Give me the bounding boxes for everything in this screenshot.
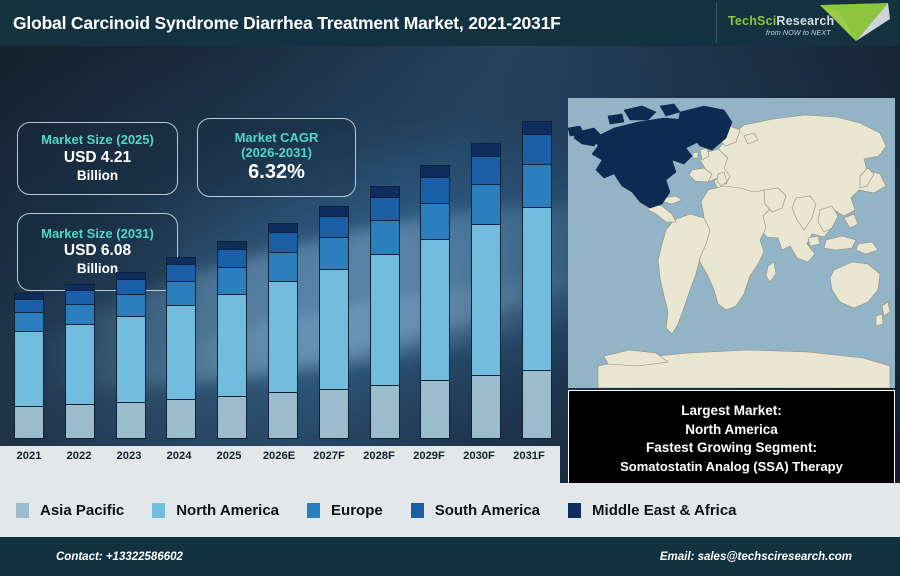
legend-label: North America: [176, 502, 279, 519]
bar-segment-north-america: [522, 207, 552, 370]
bar-segment-south-america: [268, 232, 298, 252]
bar-segment-asia-pacific: [116, 402, 146, 439]
x-axis-label: 2022: [56, 450, 102, 462]
chart-legend: Asia PacificNorth AmericaEuropeSouth Ame…: [0, 483, 900, 537]
footer-bar: Contact: +13322586602 Email: sales@techs…: [0, 537, 900, 576]
legend-label: Middle East & Africa: [592, 502, 736, 519]
bar-segment-middle-east-africa: [522, 121, 552, 134]
bar-segment-europe: [14, 312, 44, 331]
bar-segment-middle-east-africa: [116, 272, 146, 279]
bar-segment-asia-pacific: [370, 385, 400, 439]
legend-label: Europe: [331, 502, 383, 519]
bar-segment-south-america: [217, 249, 247, 267]
stacked-bar-chart: 202120222023202420252026E2027F2028F2029F…: [0, 46, 560, 483]
x-axis-label: 2027F: [306, 450, 352, 462]
infographic-root: Global Carcinoid Syndrome Diarrhea Treat…: [0, 0, 900, 576]
x-axis-label: 2031F: [506, 450, 552, 462]
bar-segment-asia-pacific: [166, 399, 196, 439]
bar-segment-asia-pacific: [319, 389, 349, 439]
bar-segment-europe: [471, 184, 501, 224]
bar-segment-asia-pacific: [420, 380, 450, 439]
bar-segment-asia-pacific: [522, 370, 552, 439]
bar-segment-south-america: [370, 197, 400, 221]
bar-segment-north-america: [116, 316, 146, 402]
highlight-info-box: Largest Market: North America Fastest Gr…: [568, 390, 895, 483]
page-title: Global Carcinoid Syndrome Diarrhea Treat…: [0, 13, 561, 34]
x-axis-label: 2029F: [406, 450, 452, 462]
legend-swatch-icon: [16, 503, 29, 518]
bar-segment-middle-east-africa: [471, 143, 501, 156]
bar-segment-south-america: [166, 264, 196, 281]
x-axis-label: 2024: [156, 450, 202, 462]
bar-column: [65, 99, 95, 439]
bar-segment-north-america: [217, 294, 247, 397]
bar-segment-middle-east-africa: [166, 257, 196, 264]
bar-column: [420, 99, 450, 439]
bar-segment-south-america: [116, 279, 146, 294]
bar-segment-middle-east-africa: [319, 206, 349, 216]
legend-item[interactable]: South America: [411, 502, 540, 519]
bar-segment-europe: [319, 237, 349, 268]
bar-segment-europe: [268, 252, 298, 281]
bar-segment-south-america: [65, 290, 95, 304]
legend-swatch-icon: [411, 503, 424, 518]
logo-brand-secondary: Research: [776, 14, 834, 28]
bar-segment-north-america: [420, 239, 450, 380]
logo-wordmark: TechSciResearch: [728, 14, 834, 28]
bar-segment-south-america: [319, 216, 349, 237]
bar-column: [471, 99, 501, 439]
logo-brand-primary: TechSci: [728, 14, 776, 28]
bar-column: [522, 99, 552, 439]
legend-item[interactable]: North America: [152, 502, 279, 519]
footer-email: Email: sales@techsciresearch.com: [660, 551, 852, 563]
bar-segment-europe: [370, 220, 400, 254]
footer-contact: Contact: +13322586602: [56, 551, 183, 563]
info-largest-market-value: North America: [685, 421, 778, 439]
bar-segment-europe: [116, 294, 146, 316]
header-bar: Global Carcinoid Syndrome Diarrhea Treat…: [0, 0, 900, 46]
info-fastest-segment-label: Fastest Growing Segment:: [646, 439, 817, 457]
legend-item[interactable]: Asia Pacific: [16, 502, 124, 519]
bar-column: [319, 99, 349, 439]
x-axis-label: 2030F: [456, 450, 502, 462]
x-axis-labels: 202120222023202420252026E2027F2028F2029F…: [14, 445, 552, 467]
x-axis-label: 2025: [206, 450, 252, 462]
bar-segment-asia-pacific: [471, 375, 501, 439]
bar-segment-europe: [217, 267, 247, 293]
bar-segment-asia-pacific: [65, 404, 95, 439]
bar-column: [217, 99, 247, 439]
x-axis-label: 2021: [6, 450, 52, 462]
logo-tagline: from NOW to NEXT: [766, 28, 831, 37]
info-fastest-segment-value: Somatostatin Analog (SSA) Therapy: [620, 458, 843, 476]
x-axis-label: 2028F: [356, 450, 402, 462]
legend-swatch-icon: [307, 503, 320, 518]
bar-segment-north-america: [370, 254, 400, 384]
bar-segment-north-america: [268, 281, 298, 392]
bar-segment-middle-east-africa: [217, 241, 247, 249]
legend-item[interactable]: Middle East & Africa: [568, 502, 736, 519]
legend-label: South America: [435, 502, 540, 519]
logo-divider: [716, 3, 717, 43]
bar-segment-north-america: [166, 305, 196, 399]
bar-column: [116, 99, 146, 439]
bar-segment-europe: [65, 304, 95, 324]
bar-segment-asia-pacific: [268, 392, 298, 439]
bar-segment-asia-pacific: [14, 406, 44, 439]
bar-segment-south-america: [522, 134, 552, 164]
bar-column: [268, 99, 298, 439]
bar-segment-south-america: [14, 299, 44, 312]
bar-segment-asia-pacific: [217, 396, 247, 439]
x-axis-label: 2026E: [256, 450, 302, 462]
bar-segment-middle-east-africa: [370, 186, 400, 197]
bar-segment-europe: [166, 281, 196, 305]
legend-swatch-icon: [568, 503, 581, 518]
bar-segment-south-america: [471, 156, 501, 184]
legend-swatch-icon: [152, 503, 165, 518]
bar-segment-north-america: [319, 269, 349, 389]
bar-segment-europe: [420, 203, 450, 240]
bar-segment-north-america: [471, 224, 501, 376]
bar-column: [166, 99, 196, 439]
legend-label: Asia Pacific: [40, 502, 124, 519]
bar-column: [14, 99, 44, 439]
bar-segment-south-america: [420, 177, 450, 203]
bar-segment-middle-east-africa: [268, 223, 298, 232]
bar-segment-north-america: [14, 331, 44, 406]
techsci-research-logo: TechSciResearch from NOW to NEXT: [716, 0, 894, 46]
chart-canvas: Market Size (2025) USD 4.21 Billion Mark…: [0, 46, 900, 483]
bar-segment-middle-east-africa: [420, 165, 450, 177]
world-map-svg: [568, 98, 895, 388]
info-largest-market-label: Largest Market:: [681, 402, 782, 420]
legend-item[interactable]: Europe: [307, 502, 383, 519]
x-axis-label: 2023: [106, 450, 152, 462]
world-map-panel: [568, 98, 895, 388]
bar-series-container: [14, 99, 552, 439]
bar-column: [370, 99, 400, 439]
bar-segment-north-america: [65, 324, 95, 404]
bar-segment-europe: [522, 164, 552, 207]
